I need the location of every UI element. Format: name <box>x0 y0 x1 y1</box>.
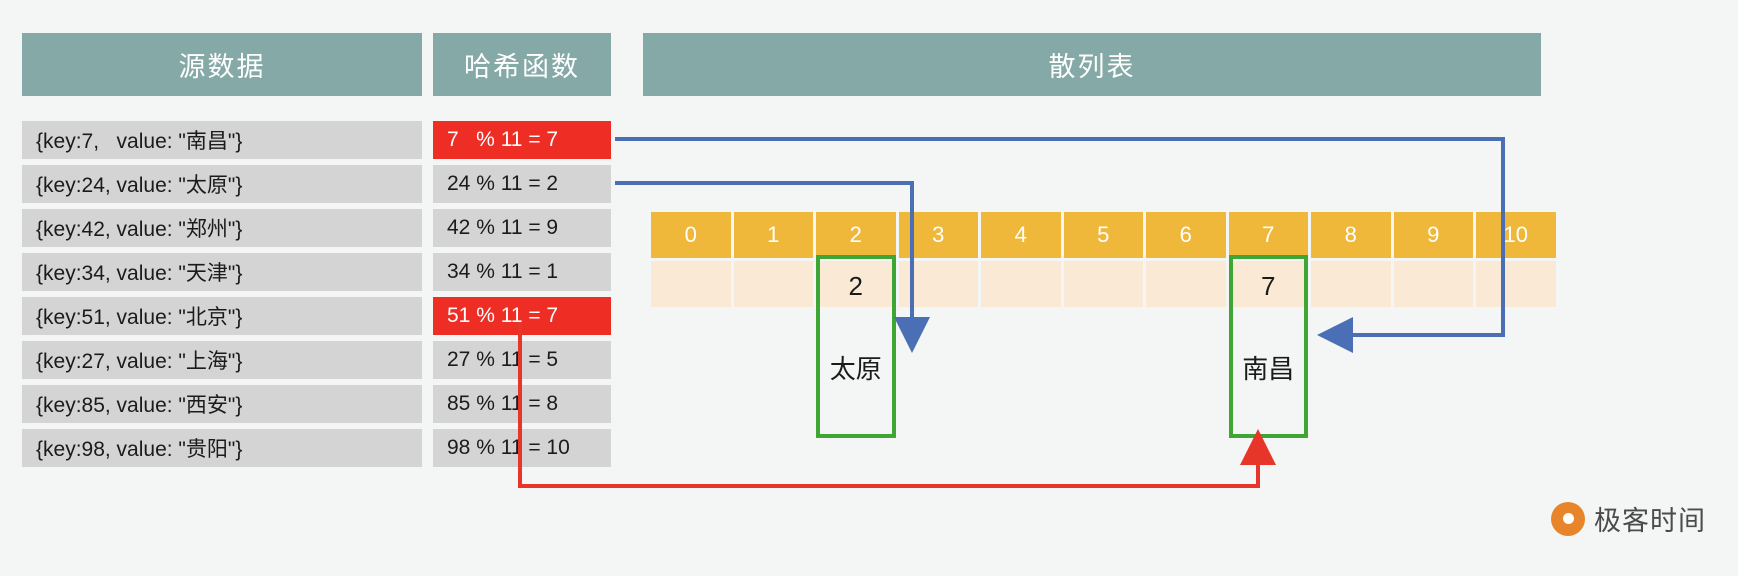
hash-table-value-cell <box>1064 261 1144 307</box>
hash-table-index-cell: 6 <box>1146 212 1226 258</box>
hash-table-value-cell <box>816 261 896 307</box>
hash-table-index-cell: 2 <box>816 212 896 258</box>
hash-table-index-row: 012345678910 <box>651 212 1556 258</box>
callout-city-2: 太原 <box>820 349 892 386</box>
hash-table-value-cell <box>1476 261 1556 307</box>
source-data-row: {key:51, value: "北京"} <box>22 297 422 335</box>
hash-row: 24 % 11 = 2 <box>433 165 611 203</box>
hash-table-index-cell: 4 <box>981 212 1061 258</box>
geekbang-logo-mark <box>1551 502 1585 536</box>
column-header-hash-table: 散列表 <box>643 33 1541 96</box>
hash-row: 85 % 11 = 8 <box>433 385 611 423</box>
source-data-row: {key:27, value: "上海"} <box>22 341 422 379</box>
hash-row: 98 % 11 = 10 <box>433 429 611 467</box>
hash-table-value-cell <box>899 261 979 307</box>
hash-table-index-cell: 9 <box>1394 212 1474 258</box>
hash-row-highlighted: 7 % 11 = 7 <box>433 121 611 159</box>
hash-table-value-cell <box>651 261 731 307</box>
source-data-row: {key:85, value: "西安"} <box>22 385 422 423</box>
column-header-source: 源数据 <box>22 33 422 96</box>
source-data-row: {key:24, value: "太原"} <box>22 165 422 203</box>
hash-table-value-cell <box>734 261 814 307</box>
source-data-row: {key:7, value: "南昌"} <box>22 121 422 159</box>
source-data-row: {key:42, value: "郑州"} <box>22 209 422 247</box>
hash-table-index-cell: 0 <box>651 212 731 258</box>
column-header-hash-function: 哈希函数 <box>433 33 611 96</box>
source-data-row: {key:34, value: "天津"} <box>22 253 422 291</box>
hash-table-value-cell <box>981 261 1061 307</box>
hash-table-index-cell: 7 <box>1229 212 1309 258</box>
hash-table-value-cell <box>1229 261 1309 307</box>
hash-row-highlighted: 51 % 11 = 7 <box>433 297 611 335</box>
diagram-canvas: 源数据 哈希函数 散列表 {key:7, value: "南昌"}{key:24… <box>0 0 1738 576</box>
hash-table-value-row <box>651 258 1556 307</box>
hash-table-value-cell <box>1146 261 1226 307</box>
callout-city-7: 南昌 <box>1233 349 1305 386</box>
hash-table-index-cell: 10 <box>1476 212 1556 258</box>
hash-row: 42 % 11 = 9 <box>433 209 611 247</box>
hash-table: 012345678910 <box>651 212 1556 307</box>
hash-row: 34 % 11 = 1 <box>433 253 611 291</box>
hash-table-value-cell <box>1311 261 1391 307</box>
hash-table-value-cell <box>1394 261 1474 307</box>
hash-row: 27 % 11 = 5 <box>433 341 611 379</box>
geekbang-logo-text: 极客时间 <box>1594 499 1706 538</box>
hash-table-index-cell: 3 <box>899 212 979 258</box>
hash-table-index-cell: 8 <box>1311 212 1391 258</box>
red-arrow-key51 <box>520 322 1258 486</box>
geekbang-logo: 极客时间 <box>1551 499 1706 538</box>
source-data-row: {key:98, value: "贵阳"} <box>22 429 422 467</box>
hash-table-index-cell: 5 <box>1064 212 1144 258</box>
hash-table-index-cell: 1 <box>734 212 814 258</box>
